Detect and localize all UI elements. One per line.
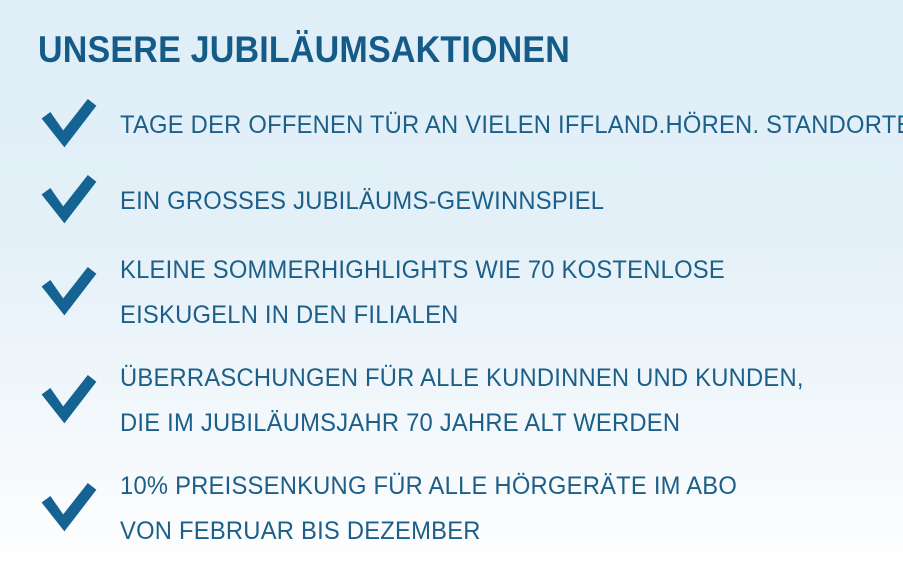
list-item: TAGE DER OFFENEN TÜR AN VIELEN IFFLAND.H… [38, 96, 879, 154]
list-item: KLEINE SOMMERHIGHLIGHTS WIE 70 KOSTENLOS… [38, 248, 879, 338]
list-item-line: DIE IM JUBILÄUMSJAHR 70 JAHRE ALT WERDEN [120, 401, 841, 446]
list-item-text: EIN GROSSES JUBILÄUMS-GEWINNSPIEL [120, 179, 841, 224]
list-item-text: ÜBERRASCHUNGEN FÜR ALLE KUNDINNEN UND KU… [120, 356, 841, 446]
list-item-line: VON FEBRUAR BIS DEZEMBER [120, 509, 841, 554]
list-item-line: EIN GROSSES JUBILÄUMS-GEWINNSPIEL [120, 179, 841, 224]
list-item-text: TAGE DER OFFENEN TÜR AN VIELEN IFFLAND.H… [120, 103, 903, 148]
panel-content: UNSERE JUBILÄUMSAKTIONEN TAGE DER OFFENE… [38, 28, 879, 554]
list-item-line: TAGE DER OFFENEN TÜR AN VIELEN IFFLAND.H… [120, 103, 903, 148]
list-item-text: 10% PREISSENKUNG FÜR ALLE HÖRGERÄTE IM A… [120, 464, 841, 554]
list-item-line: 10% PREISSENKUNG FÜR ALLE HÖRGERÄTE IM A… [120, 464, 841, 509]
list-item-text: KLEINE SOMMERHIGHLIGHTS WIE 70 KOSTENLOS… [120, 248, 841, 338]
checkmark-icon [38, 96, 104, 154]
list-item-line: EISKUGELN IN DEN FILIALEN [120, 293, 841, 338]
checkmark-icon [38, 480, 104, 538]
page-title: UNSERE JUBILÄUMSAKTIONEN [38, 28, 812, 72]
list-item-line: ÜBERRASCHUNGEN FÜR ALLE KUNDINNEN UND KU… [120, 356, 841, 401]
checkmark-icon [38, 372, 104, 430]
list-item-line: KLEINE SOMMERHIGHLIGHTS WIE 70 KOSTENLOS… [120, 248, 841, 293]
list-item: 10% PREISSENKUNG FÜR ALLE HÖRGERÄTE IM A… [38, 464, 879, 554]
promotions-panel: UNSERE JUBILÄUMSAKTIONEN TAGE DER OFFENE… [0, 0, 903, 570]
checkmark-icon [38, 172, 104, 230]
list-item: EIN GROSSES JUBILÄUMS-GEWINNSPIEL [38, 172, 879, 230]
benefit-list: TAGE DER OFFENEN TÜR AN VIELEN IFFLAND.H… [38, 96, 879, 554]
checkmark-icon [38, 264, 104, 322]
list-item: ÜBERRASCHUNGEN FÜR ALLE KUNDINNEN UND KU… [38, 356, 879, 446]
